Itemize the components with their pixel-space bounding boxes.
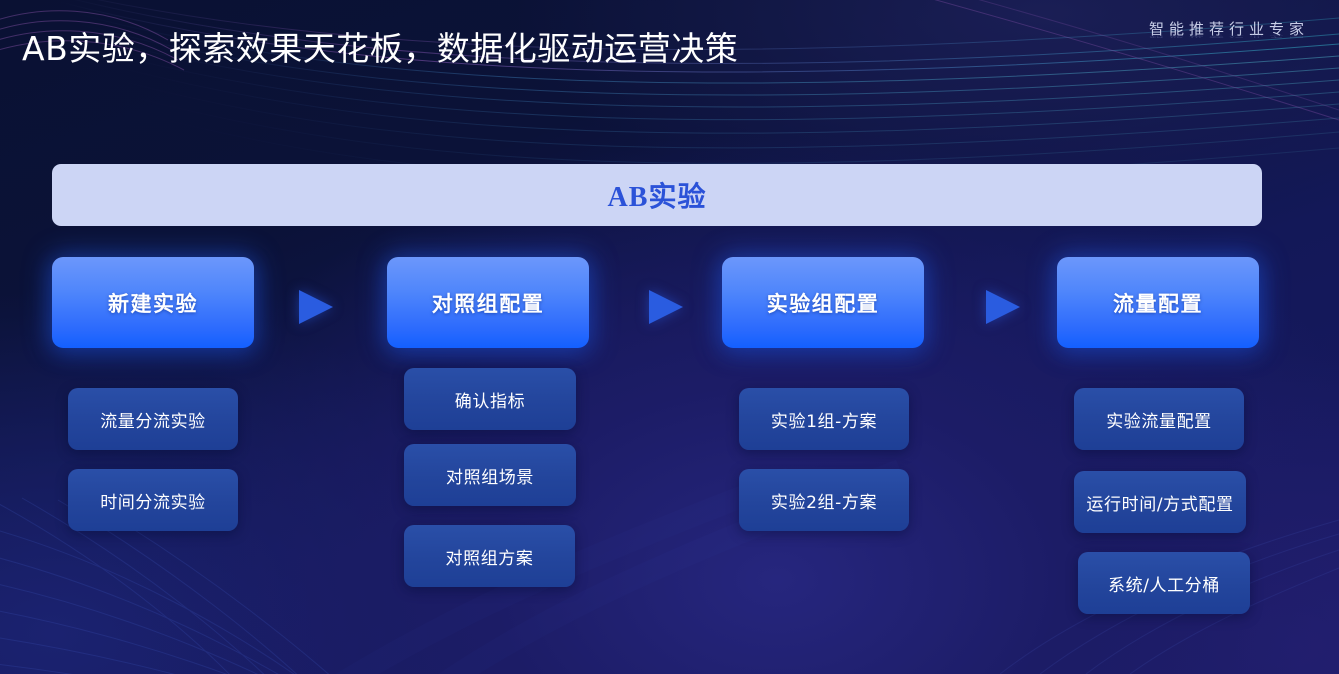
list-item[interactable]: 流量分流实验 xyxy=(68,388,238,450)
list-item[interactable]: 实验2组-方案 xyxy=(739,469,909,531)
list-item-label: 时间分流实验 xyxy=(100,488,206,513)
list-item[interactable]: 时间分流实验 xyxy=(68,469,238,531)
stage-box-traffic-config[interactable]: 流量配置 xyxy=(1057,257,1259,348)
stage-label: 实验组配置 xyxy=(767,288,880,318)
list-item-label: 对照组方案 xyxy=(446,544,534,569)
list-item[interactable]: 确认指标 xyxy=(404,368,576,430)
list-item[interactable]: 实验流量配置 xyxy=(1074,388,1244,450)
stage-box-new-experiment[interactable]: 新建实验 xyxy=(52,257,254,348)
list-item[interactable]: 对照组场景 xyxy=(404,444,576,506)
diagram-header-bar: AB实验 xyxy=(52,164,1262,226)
list-item-label: 确认指标 xyxy=(455,387,525,412)
list-item[interactable]: 运行时间/方式配置 xyxy=(1074,471,1246,533)
stage-box-control-group-config[interactable]: 对照组配置 xyxy=(387,257,589,348)
list-item-label: 实验2组-方案 xyxy=(771,488,877,513)
stage-label: 新建实验 xyxy=(108,288,198,318)
list-item[interactable]: 实验1组-方案 xyxy=(739,388,909,450)
list-item-label: 实验流量配置 xyxy=(1106,407,1212,432)
list-item-label: 流量分流实验 xyxy=(100,407,206,432)
list-item-label: 系统/人工分桶 xyxy=(1108,571,1220,596)
stage-box-experiment-group-config[interactable]: 实验组配置 xyxy=(722,257,924,348)
list-item[interactable]: 系统/人工分桶 xyxy=(1078,552,1250,614)
arrow-right-icon xyxy=(299,290,333,324)
arrow-right-icon xyxy=(986,290,1020,324)
list-item[interactable]: 对照组方案 xyxy=(404,525,575,587)
stage-label: 对照组配置 xyxy=(432,288,545,318)
arrow-right-icon xyxy=(649,290,683,324)
ab-experiment-flow-diagram: AB实验 新建实验 对照组配置 实验组配置 流量配置 流量分流实验 时间分流实验… xyxy=(0,0,1339,674)
diagram-header-label: AB实验 xyxy=(608,175,707,215)
list-item-label: 运行时间/方式配置 xyxy=(1086,490,1233,515)
slide-background: AB实验，探索效果天花板，数据化驱动运营决策 智能推荐行业专家 智能推荐行业专家… xyxy=(0,0,1339,674)
list-item-label: 实验1组-方案 xyxy=(771,407,877,432)
stage-label: 流量配置 xyxy=(1113,288,1203,318)
list-item-label: 对照组场景 xyxy=(446,463,534,488)
